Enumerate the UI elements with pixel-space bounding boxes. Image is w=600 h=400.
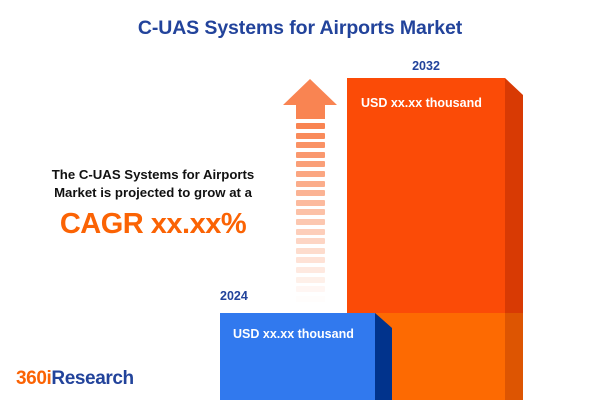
logo-prefix: 360i [16,368,51,389]
infographic-canvas: C-UAS Systems for Airports Market The C-… [0,0,600,400]
brand-logo: 360iResearch [16,368,134,390]
bar-forecast-year-side-face-lower [505,313,523,400]
bar-forecast-year-value: USD xx.xx thousand [361,96,482,110]
bar-forecast-year-label: 2032 [347,59,505,73]
bar-base-year-value: USD xx.xx thousand [233,327,354,341]
bar-base-year-side-face [375,313,392,400]
logo-suffix: Research [51,368,133,389]
bar-base-year-label: 2024 [220,289,300,303]
bar-chart: 2032 USD xx.xx thousand 2024 USD xx.xx t… [0,0,600,400]
